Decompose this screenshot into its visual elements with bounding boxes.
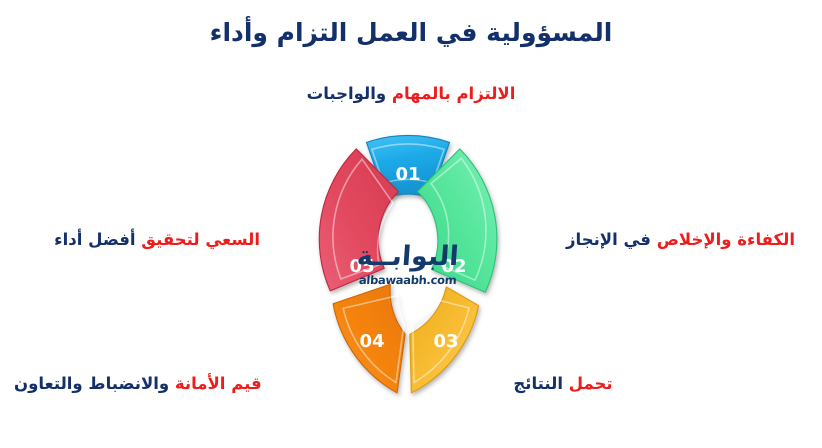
donut-svg: 01 02 03 04 05: [268, 125, 548, 405]
segment-label-01: الالتزام بالمهام والواجبات: [0, 84, 822, 104]
segment-label-04: قيم الأمانة والانضباط والتعاون: [14, 374, 262, 394]
segment-label-04-highlight: قيم الأمانة: [175, 374, 262, 393]
segment-label-01-normal: والواجبات: [307, 84, 387, 103]
segment-label-02-highlight: الكفاءة والإخلاص: [657, 230, 795, 249]
donut-segment-number-05: 05: [349, 256, 374, 277]
segment-label-04-normal: والانضباط والتعاون: [14, 374, 169, 393]
donut-segment-number-02: 02: [441, 256, 466, 277]
donut-segment-number-01: 01: [395, 164, 420, 185]
segment-label-05-normal: أفضل أداء: [54, 230, 135, 249]
segment-label-03-highlight: تحمل: [569, 374, 613, 393]
segment-label-03: تحمل النتائج: [452, 374, 674, 394]
donut-wheel-chart: 01 02 03 04 05: [268, 125, 548, 405]
segment-label-01-highlight: الالتزام بالمهام: [392, 84, 515, 103]
donut-segment-number-03: 03: [433, 331, 458, 352]
segment-label-05-highlight: السعي لتحقيق: [141, 230, 260, 249]
donut-segment-number-04: 04: [359, 331, 384, 352]
segment-label-02-normal: في الإنجاز: [566, 230, 651, 249]
page-title: المسؤولية في العمل التزام وأداء: [0, 18, 822, 47]
segment-label-02: الكفاءة والإخلاص في الإنجاز: [566, 230, 795, 250]
segment-label-05: السعي لتحقيق أفضل أداء: [14, 230, 260, 250]
segment-label-03-normal: النتائج: [513, 374, 563, 393]
